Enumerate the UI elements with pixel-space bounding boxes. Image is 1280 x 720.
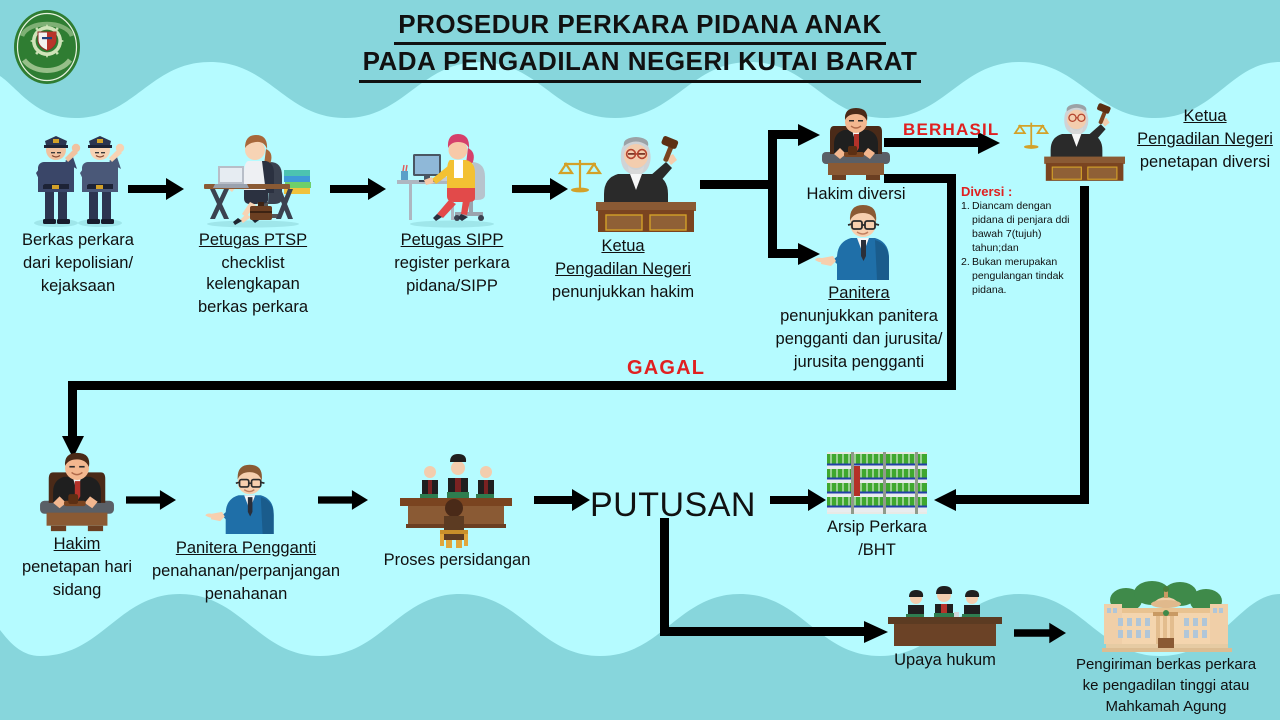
step4-title: Ketua — [548, 236, 698, 257]
step1-line3: kejaksaan — [8, 276, 148, 297]
step2-line3: berkas perkara — [178, 297, 328, 318]
clerk-presenting-icon — [811, 202, 907, 280]
archive-shelves-icon — [827, 452, 927, 514]
diversi-note-item: 1.Diancam dengan pidana di penjara ddi b… — [961, 200, 1079, 255]
node-proses-persidangan: Proses persidangan — [378, 456, 536, 571]
step9-title: Panitera Pengganti — [146, 538, 346, 559]
label-gagal: GAGAL — [627, 357, 705, 380]
step2-line2: checklist kelengkapan — [178, 253, 328, 295]
verdict-label: PUTUSAN — [590, 486, 756, 525]
step8-title: Hakim — [12, 534, 142, 555]
node-ketua-pengadilan-negeri-penunjukkan-hakim: Ketua Pengadilan Negeri penunjukkan haki… — [548, 124, 698, 303]
page-title: PROSEDUR PERKARA PIDANA ANAK PADA PENGAD… — [0, 8, 1280, 83]
judge-at-bench-with-gavel-icon — [550, 124, 696, 234]
diversi-to-arsip-horizontal — [952, 495, 1089, 504]
step11-line2: /BHT — [812, 540, 942, 561]
arrow-step2-to-step3 — [330, 176, 386, 202]
node-ketua-pengadilan-negeri-penetapan-diversi — [1006, 92, 1126, 184]
node-panitera: Panitera penunjukkan panitera pengganti … — [762, 202, 956, 373]
diversi-note-item: 2.Bukan merupakan pengulangan tindak pid… — [961, 256, 1079, 298]
step1-title: Berkas perkara — [8, 230, 148, 251]
pengadilan-negeri-kutai-barat-seal — [12, 8, 82, 86]
step2-title: Petugas PTSP — [178, 230, 328, 251]
judge-seated-icon — [810, 108, 902, 180]
gagal-horizontal-long — [68, 381, 956, 390]
step8-line3: sidang — [12, 580, 142, 601]
step1-line2: dari kepolisian/ — [8, 253, 148, 274]
step10-title: Proses persidangan — [378, 550, 536, 571]
branch-trunk-horizontal — [700, 180, 776, 189]
step4-title2: Pengadilan Negeri — [548, 259, 698, 280]
step9-line3: penahanan — [146, 584, 346, 605]
diversi-note-heading: Diversi : — [961, 184, 1079, 199]
step7-line3: penetapan diversi — [1130, 152, 1280, 173]
diversi-note-item-text: Bukan merupakan pengulangan tindak pidan… — [972, 256, 1064, 296]
step7-caption-block: Ketua Pengadilan Negeri penetapan divers… — [1130, 104, 1280, 173]
diversi-note-item-number: 1. — [961, 200, 970, 214]
step8-line2: penetapan hari — [12, 557, 142, 578]
putusan-branch-vertical — [660, 518, 669, 635]
judge-seated-icon — [27, 452, 127, 532]
judge-at-bench-with-gavel-icon — [1007, 92, 1125, 184]
node-arsip-perkara-bht: Arsip Perkara /BHT — [812, 452, 942, 561]
node-berkas-perkara: Berkas perkara dari kepolisian/ kejaksaa… — [8, 128, 148, 297]
diversi-note-list: 1.Diancam dengan pidana di penjara ddi b… — [961, 200, 1079, 298]
step6-title: Panitera — [762, 283, 956, 304]
step3-line2: register perkara — [382, 253, 522, 274]
step13-line3: Mahkamah Agung — [1066, 697, 1266, 716]
node-hakim-penetapan-hari-sidang: Hakim penetapan hari sidang — [12, 452, 142, 601]
diversi-note: Diversi : 1.Diancam dengan pidana di pen… — [961, 184, 1079, 299]
title-line-2: PADA PENGADILAN NEGERI KUTAI BARAT — [359, 45, 922, 82]
arrow-step10-to-putusan — [534, 487, 590, 513]
label-berhasil: BERHASIL — [903, 120, 1000, 140]
step7-title2: Pengadilan Negeri — [1130, 129, 1280, 150]
step13-line1: Pengiriman berkas perkara — [1066, 655, 1266, 674]
step5-title: Hakim — [806, 185, 853, 203]
node-hakim-diversi: Hakim diversi — [795, 108, 917, 205]
infographic-canvas: PROSEDUR PERKARA PIDANA ANAK PADA PENGAD… — [0, 0, 1280, 720]
courthouse-building-icon — [1096, 582, 1236, 654]
officer-at-computer-desk-icon — [389, 128, 515, 228]
node-petugas-sipp: Petugas SIPP register perkara pidana/SIP… — [382, 128, 522, 297]
step3-line3: pidana/SIPP — [382, 276, 522, 297]
clerk-presenting-icon — [201, 462, 291, 534]
node-pengiriman-berkas-perkara: Pengiriman berkas perkara ke pengadilan … — [1066, 582, 1266, 717]
court-hearing-panel-icon — [392, 456, 522, 548]
diversi-note-item-number: 2. — [961, 256, 970, 270]
step11-title: Arsip Perkara — [812, 517, 942, 538]
clerk-at-desk-with-laptop-icon — [188, 128, 318, 228]
node-petugas-ptsp: Petugas PTSP checklist kelengkapan berka… — [178, 128, 328, 318]
two-police-officers-saluting-icon — [22, 128, 134, 228]
arrow-upaya-hukum-to-pengiriman — [1014, 620, 1066, 646]
step3-title: Petugas SIPP — [382, 230, 522, 251]
diversi-note-item-text: Diancam dengan pidana di penjara ddi baw… — [972, 200, 1070, 254]
step6-line3: pengganti dan jurusita/ — [762, 329, 956, 350]
gagal-vertical-left — [68, 381, 77, 443]
judges-panel-bench-icon — [886, 586, 1004, 648]
step4-line3: penunjukkan hakim — [548, 282, 698, 303]
step9-line2: penahanan/perpanjangan — [146, 561, 346, 582]
step6-line2: penunjukkan panitera — [762, 306, 956, 327]
step7-title: Ketua — [1130, 106, 1280, 127]
title-line-1: PROSEDUR PERKARA PIDANA ANAK — [394, 8, 885, 45]
diversi-to-arsip-vertical — [1080, 186, 1089, 500]
step13-line2: ke pengadilan tinggi atau — [1066, 676, 1266, 695]
node-upaya-hukum: Upaya hukum — [880, 586, 1010, 671]
step6-line4: jurusita pengganti — [762, 352, 956, 373]
step5-suffix: diversi — [853, 185, 905, 203]
step12-title: Upaya hukum — [880, 650, 1010, 671]
putusan-branch-horizontal — [660, 627, 870, 636]
node-panitera-pengganti: Panitera Pengganti penahanan/perpanjanga… — [146, 462, 346, 605]
